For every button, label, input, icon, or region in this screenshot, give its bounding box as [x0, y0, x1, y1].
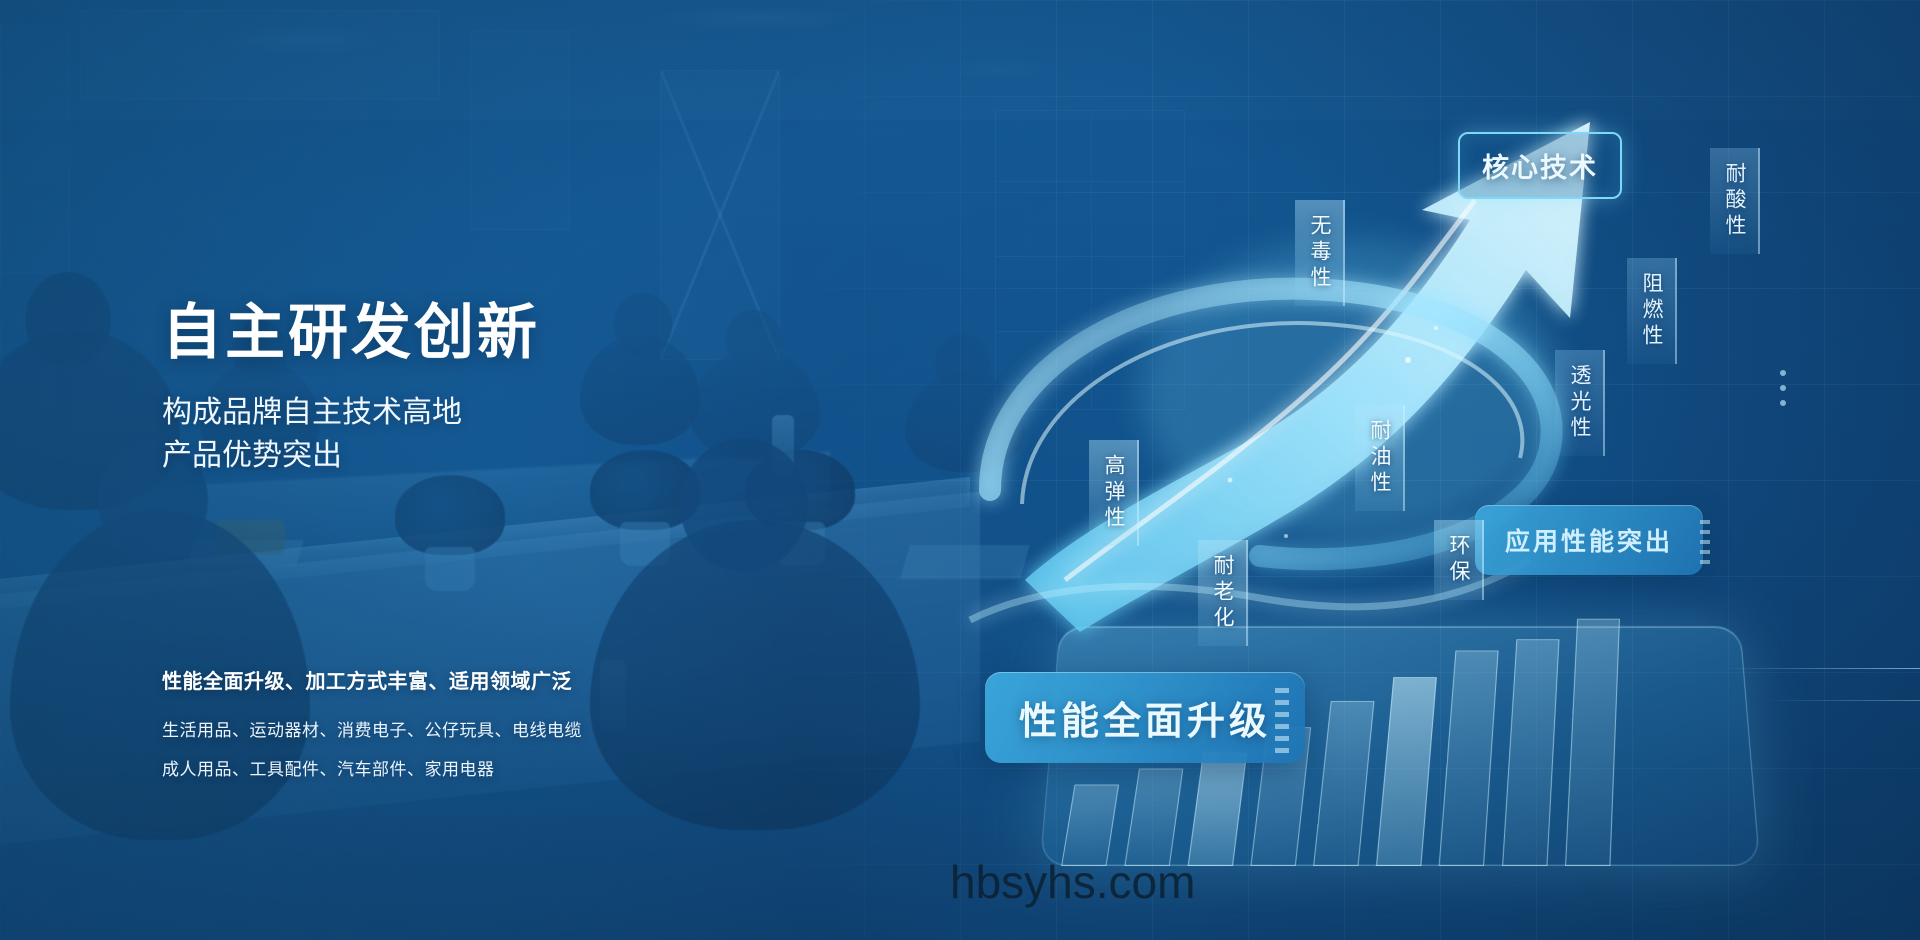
performance-tick-marks: [1275, 688, 1289, 760]
tag-environmental[interactable]: 环保: [1434, 520, 1484, 600]
chart-bar: [1188, 753, 1248, 867]
badge-performance-upgrade[interactable]: 性能全面升级: [985, 672, 1305, 763]
arrow-svg: [930, 60, 1920, 700]
tag-flame-retardant[interactable]: 阻燃性: [1627, 258, 1677, 364]
tag-acid-resistance[interactable]: 耐酸性: [1710, 148, 1760, 254]
decorative-line: [1720, 668, 1920, 669]
badge-core-technology[interactable]: 核心技术: [1458, 132, 1622, 199]
chart-bar: [1124, 769, 1183, 867]
badge-application-performance[interactable]: 应用性能突出: [1475, 505, 1703, 575]
application-line-2: 成人用品、工具配件、汽车部件、家用电器: [162, 755, 802, 780]
decorative-dots: [1780, 370, 1786, 415]
headline-block: 自主研发创新 构成品牌自主技术高地 产品优势突出: [162, 300, 782, 477]
tag-high-elasticity[interactable]: 高弹性: [1089, 440, 1139, 546]
growth-arrow-graphic: [930, 60, 1920, 700]
feature-headline: 性能全面升级、加工方式丰富、适用领域广泛: [162, 665, 802, 694]
subtitle-line-1: 构成品牌自主技术高地: [162, 392, 782, 435]
tag-non-toxic[interactable]: 无毒性: [1295, 200, 1345, 306]
application-tick-marks: [1700, 520, 1710, 576]
tag-light-transmittance[interactable]: 透光性: [1555, 350, 1605, 456]
site-watermark: hbsyhs.com: [950, 855, 1195, 909]
chart-bar: [1376, 677, 1437, 866]
chart-bar: [1313, 701, 1374, 866]
infographic: 核心技术 应用性能突出 性能全面升级 高弹性 耐老化 耐油性 环保 无毒性 耐酸…: [930, 0, 1920, 940]
application-line-1: 生活用品、运动器材、消费电子、公仔玩具、电线电缆: [162, 716, 802, 741]
chart-bar: [1061, 784, 1119, 866]
subtitle-line-2: 产品优势突出: [162, 435, 782, 478]
feature-list: 性能全面升级、加工方式丰富、适用领域广泛 生活用品、运动器材、消费电子、公仔玩具…: [162, 665, 802, 794]
tag-aging-resistance[interactable]: 耐老化: [1198, 540, 1248, 646]
banner-stage: 自主研发创新 构成品牌自主技术高地 产品优势突出 性能全面升级、加工方式丰富、适…: [0, 0, 1920, 940]
decorative-line: [1760, 700, 1920, 701]
page-title: 自主研发创新: [162, 300, 782, 366]
tag-oil-resistance[interactable]: 耐油性: [1355, 405, 1405, 511]
